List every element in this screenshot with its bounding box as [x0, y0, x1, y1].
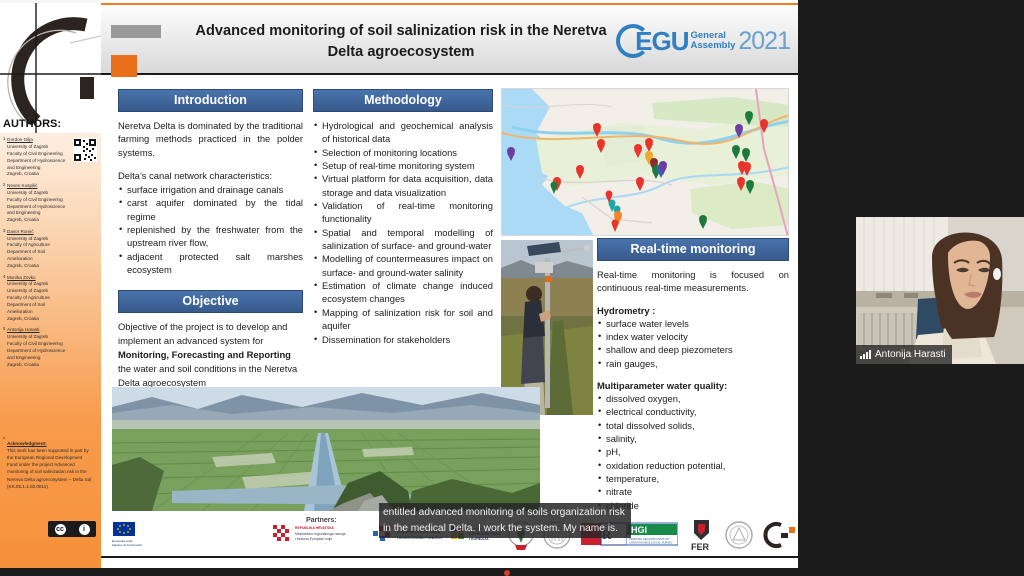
author-affiliation-1: University of Zagreb	[7, 281, 48, 286]
poster-column-realtime-monitoring: Real-time monitoring Real-time monitorin…	[597, 238, 789, 512]
acknowledgment-marker: *	[3, 437, 5, 445]
realtime-paragraph: Real-time monitoring is focused on conti…	[597, 268, 789, 295]
author-entry: 2 Neven Kuspilić University of Zagreb Fa…	[3, 183, 99, 224]
svg-text:i fondova Europske unije: i fondova Europske unije	[295, 537, 332, 541]
author-affiliation-1: University of Zagreb	[7, 190, 48, 195]
author-name: Davor Romić	[7, 229, 99, 236]
signal-bars-icon	[860, 350, 871, 359]
author-affiliation-3: Department of Soil	[7, 249, 45, 254]
author-affiliation-4: Amelioration	[7, 256, 33, 261]
list-item: surface water levels	[597, 317, 789, 330]
egu-general-assembly-text: General Assembly	[690, 31, 735, 51]
author-affiliation-4: Department of Soil	[7, 302, 45, 307]
list-item: adjacent protected salt marshes ecosyste…	[118, 250, 303, 277]
author-affiliation-4: and Engineering	[7, 210, 40, 215]
authors-sidebar: AUTHORS:	[3, 118, 99, 373]
section-header-realtime-monitoring: Real-time monitoring	[597, 238, 789, 261]
poster-corner-decoration	[0, 3, 101, 133]
list-item: Estimation of climate change induced eco…	[313, 279, 493, 306]
aerial-view-of-neretva-delta-polder-fields-photo	[112, 387, 540, 511]
egu-assembly-line: Assembly	[690, 41, 735, 51]
poster-title: Advanced monitoring of soil salinization…	[191, 21, 611, 63]
author-affiliation-5: Amelioration	[7, 309, 33, 314]
hydrometry-bullet-list: surface water levels index water velocit…	[597, 317, 789, 370]
svg-text:HGI: HGI	[631, 525, 647, 535]
acknowledgment-title: Acknowledgment:	[7, 440, 93, 447]
title-orange-accent	[111, 55, 137, 77]
eu-flag-logo: Europska unija Zajedno do fondova EU	[111, 521, 145, 554]
list-item: Hydrological and geochemical analysis of…	[313, 119, 493, 146]
objective-paragraph: Objective of the project is to develop a…	[118, 320, 303, 390]
objective-pre-text: Objective of the project is to develop a…	[118, 321, 287, 346]
author-index: 1	[3, 136, 5, 142]
participant-name: Antonija Harasti	[875, 349, 946, 360]
list-item: Setup of real-time monitoring system	[313, 159, 493, 172]
list-item: Selection of monitoring locations	[313, 146, 493, 159]
poster-slide: Advanced monitoring of soil salinization…	[0, 0, 798, 568]
author-entry: 3 Davor Romić University of Zagreb Facul…	[3, 229, 99, 270]
list-item: salinity,	[597, 432, 789, 445]
list-item: Virtual platform for data acquisition, d…	[313, 172, 493, 199]
live-caption-overlay: entitled advanced monitoring of soils or…	[379, 503, 631, 538]
list-item: Spatial and temporal modelling of salini…	[313, 226, 493, 253]
author-affiliation-1: University of Zagreb	[7, 236, 48, 241]
egu-year: 2021	[738, 27, 790, 56]
poster-left-band-bottom	[0, 540, 101, 568]
author-affiliation-2: Faculty of Civil Engineering	[7, 341, 63, 346]
list-item: Validation of real-time monitoring funct…	[313, 199, 493, 226]
objective-bold-text: Monitoring, Forecasting and Reporting	[118, 349, 291, 360]
egu-ring-icon	[616, 24, 650, 58]
list-item: nitrate	[597, 485, 789, 498]
participant-video-tile[interactable]: Antonija Harasti	[856, 217, 1024, 364]
author-index: 3	[3, 228, 5, 234]
participant-name-label: Antonija Harasti	[856, 345, 952, 364]
objective-post-text: the water and soil conditions in the Ner…	[118, 363, 297, 388]
list-item: pH,	[597, 445, 789, 458]
section-header-objective: Objective	[118, 290, 303, 313]
list-item: replenished by the freshwater from the u…	[118, 223, 303, 250]
map-of-monitoring-locations	[501, 88, 789, 236]
svg-text:CROATIAN GEOLOGICAL SURVEY: CROATIAN GEOLOGICAL SURVEY	[629, 541, 673, 545]
author-affiliation-3: Department of Hydroscience	[7, 204, 65, 209]
author-affiliation-4: and Engineering	[7, 355, 40, 360]
list-item: index water velocity	[597, 330, 789, 343]
author-name: Gordon Gilja	[7, 137, 99, 144]
poster-column-methodology: Methodology Hydrological and geochemical…	[313, 89, 493, 346]
author-affiliation-6: Zagreb, Croatia	[7, 316, 39, 321]
water-quality-bullet-list: dissolved oxygen, electrical conductivit…	[597, 392, 789, 512]
author-affiliation-2: Faculty of Civil Engineering	[7, 151, 63, 156]
author-affiliation-2: Faculty of Agriculture	[7, 242, 50, 247]
author-index: 4	[3, 274, 5, 280]
author-affiliation-4: and Engineering	[7, 165, 40, 170]
title-gray-accent	[111, 25, 161, 38]
introduction-subheading: Delta’s canal network characteristics:	[118, 170, 303, 181]
author-affiliation-3: Department of Hydroscience	[7, 348, 65, 353]
author-name: Antonija Harasti	[7, 327, 99, 334]
list-item: surface irrigation and drainage canals	[118, 183, 303, 196]
introduction-paragraph: Neretva Delta is dominated by the tradit…	[118, 119, 303, 159]
author-name: Neven Kuspilić	[7, 183, 99, 190]
svg-text:Zajedno do fondova EU: Zajedno do fondova EU	[112, 543, 142, 547]
list-item: Mapping of salinization risk for soil an…	[313, 306, 493, 333]
list-item: electrical conductivity,	[597, 405, 789, 418]
list-item: dissolved oxygen,	[597, 392, 789, 405]
author-affiliation-5: Zagreb, Croatia	[7, 362, 39, 367]
author-affiliation-1: University of Zagreb	[7, 334, 48, 339]
introduction-bullet-list: surface irrigation and drainage canals c…	[118, 183, 303, 276]
fer-logo: FER	[685, 517, 719, 558]
delta-sal-project-logo	[761, 521, 797, 554]
methodology-bullet-list: Hydrological and geochemical analysis of…	[313, 119, 493, 346]
hgi-croatian-geological-survey-logo: HGI HRVATSKI GEOLOŠKI INSTITUT CROATIAN …	[626, 521, 678, 554]
water-quality-group-title: Multiparameter water quality:	[597, 380, 789, 391]
section-header-methodology: Methodology	[313, 89, 493, 112]
author-affiliation-1: University of Zagreb	[7, 144, 48, 149]
author-entry: 5 Antonija Harasti University of Zagreb …	[3, 327, 99, 368]
list-item: shallow and deep piezometers	[597, 343, 789, 356]
poster-title-bar: Advanced monitoring of soil salinization…	[101, 3, 798, 75]
author-affiliation-2: University of Zagreb	[7, 288, 48, 293]
svg-text:REPUBLIKA HRVATSKA: REPUBLIKA HRVATSKA	[295, 526, 334, 530]
author-index: 5	[3, 326, 5, 332]
list-item: oxidation reduction potential,	[597, 459, 789, 472]
list-item: Dissemination for stakeholders	[313, 333, 493, 346]
author-entry: 4 Monika Zovko University of Zagreb Univ…	[3, 275, 99, 323]
institute-seal-logo	[723, 519, 755, 558]
creative-commons-license-badge: cc i	[48, 521, 96, 537]
svg-text:FER: FER	[691, 542, 710, 552]
list-item: temperature,	[597, 472, 789, 485]
egu-general-assembly-2021-logo: EGU General Assembly 2021	[616, 19, 790, 63]
author-affiliation-3: Department of Hydroscience	[7, 158, 65, 163]
recording-indicator-dot	[504, 570, 510, 576]
author-affiliation-5: Zagreb, Croatia	[7, 263, 39, 268]
section-header-introduction: Introduction	[118, 89, 303, 112]
author-affiliation-2: Faculty of Civil Engineering	[7, 197, 63, 202]
author-affiliation-3: Faculty of Agriculture	[7, 295, 50, 300]
list-item: carst aquifer dominated by the tidal reg…	[118, 196, 303, 223]
author-name: Monika Zovko	[7, 275, 99, 282]
list-item: total dissolved solids,	[597, 419, 789, 432]
cc-by-icon: i	[79, 524, 90, 535]
acknowledgment-block: * Acknowledgment: This work has been sup…	[3, 440, 93, 490]
author-index: 2	[3, 182, 5, 188]
author-affiliation-5: Zagreb, Croatia	[7, 171, 39, 176]
list-item: rain gauges,	[597, 357, 789, 370]
list-item: Modelling of countermeasures impact on s…	[313, 252, 493, 279]
author-entry: 1 Gordon Gilja University of Zagreb Facu…	[3, 137, 99, 178]
poster-column-introduction: Introduction Neretva Delta is dominated …	[118, 89, 303, 390]
author-affiliation-5: Zagreb, Croatia	[7, 217, 39, 222]
svg-text:Ministarstvo regionalnoga razv: Ministarstvo regionalnoga razvoja	[295, 532, 346, 536]
authors-heading: AUTHORS:	[3, 118, 99, 130]
acknowledgment-text: This work has been supported in part by …	[7, 448, 91, 489]
hydrometry-group-title: Hydrometry :	[597, 305, 789, 316]
shared-screen-region[interactable]: Advanced monitoring of soil salinization…	[0, 0, 798, 568]
cc-icon: cc	[55, 524, 66, 535]
